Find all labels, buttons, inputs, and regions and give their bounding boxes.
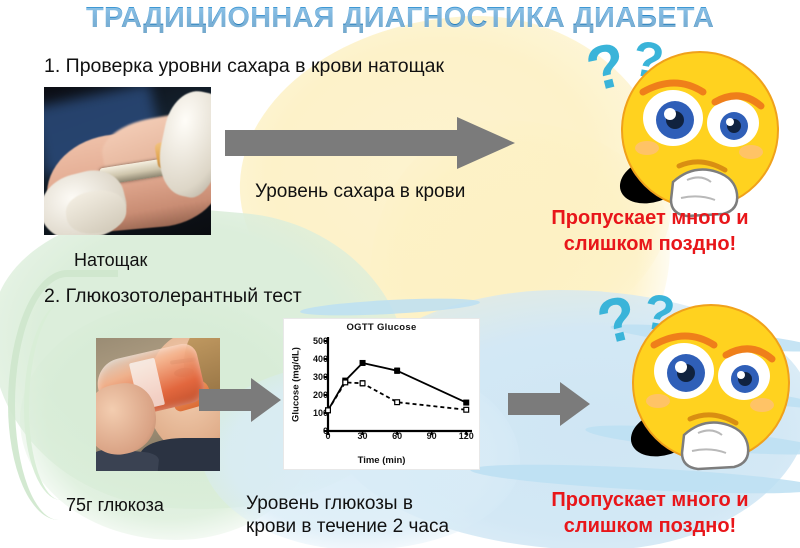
thinking-face-icon-1: ? ?	[575, 30, 790, 225]
chart-data-point	[326, 408, 331, 413]
step-1-heading: 1. Проверка уровни сахара в крови натоща…	[44, 55, 604, 79]
step-1-arrow-label: Уровень сахара в крови	[255, 180, 470, 203]
chart-series-line	[328, 382, 466, 410]
arrow-right-icon-step2	[199, 378, 281, 422]
arrow-right-icon-step1	[225, 117, 515, 169]
arrow-right-icon-step2-result	[508, 382, 590, 426]
chart-data-point	[343, 380, 348, 385]
watercolor-swirl-green-2	[24, 300, 104, 500]
chart-data-point	[464, 400, 469, 405]
step-2-photo-caption: 75г глюкоза	[66, 495, 164, 517]
step-1-verdict: Пропускает много и слишком поздно!	[505, 205, 795, 258]
chart-data-point	[395, 400, 400, 405]
slide-canvas: ТРАДИЦИОННАЯ ДИАГНОСТИКА ДИАБЕТА 1. Пров…	[0, 0, 800, 548]
chart-data-point	[360, 381, 365, 386]
thinking-face-icon-2: ? ?	[586, 283, 800, 478]
step-2-arrow-label: Уровень глюкозы в крови в течение 2 часа	[246, 492, 461, 538]
step-2-verdict: Пропускает много и слишком поздно!	[505, 487, 795, 540]
step-2-heading: 2. Глюкозотолерантный тест	[44, 285, 464, 309]
chart-data-point	[360, 361, 365, 366]
step-1-photo-caption: Натощак	[74, 250, 147, 272]
chart-data-point	[395, 368, 400, 373]
ogtt-glucose-chart: OGTT Glucose Glucose (mg/dL) Time (min) …	[283, 318, 480, 470]
chart-data-point	[464, 407, 469, 412]
svg-text:?: ?	[591, 283, 644, 359]
chart-plot-area	[284, 319, 481, 471]
svg-text:?: ?	[580, 30, 633, 106]
blood-draw-photo	[44, 87, 211, 235]
